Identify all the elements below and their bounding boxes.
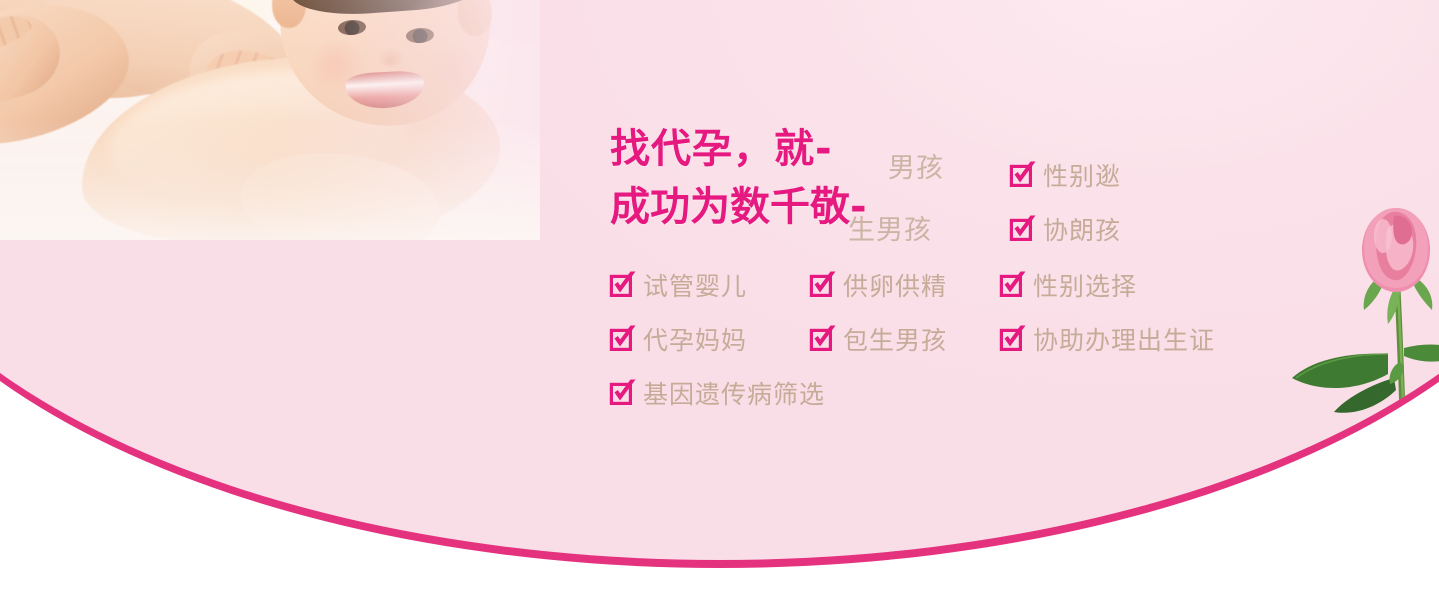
checklist-item-genetic-screening[interactable]: 基因遗传病筛选 bbox=[610, 375, 825, 411]
promo-banner: 男孩 生男孩 找代孕，就‐ 成功为数千敬‐ 性别逖 bbox=[0, 0, 1439, 600]
checklist-label: 协助办理出生证 bbox=[1033, 321, 1215, 357]
checklist-item-birth-cert[interactable]: 协助办理出生证 bbox=[1000, 321, 1215, 357]
table-row: 试管婴儿 供卵供精 性别选择 bbox=[610, 258, 1310, 312]
list-item[interactable]: 性别逖 bbox=[1010, 148, 1121, 202]
checkbox-checked-icon[interactable] bbox=[1010, 163, 1034, 187]
checklist-label: 包生男孩 bbox=[843, 321, 947, 357]
checklist-label: 供卵供精 bbox=[843, 267, 947, 303]
checklist-label: 代孕妈妈 bbox=[643, 321, 747, 357]
headline-line-2: 成功为数千敬‐ bbox=[610, 178, 1310, 236]
checkbox-checked-icon[interactable] bbox=[610, 327, 634, 351]
checklist-label: 试管婴儿 bbox=[643, 267, 747, 303]
checklist-item-boy[interactable]: 包生男孩 bbox=[810, 321, 1000, 357]
photo-bottom-fade bbox=[0, 120, 540, 240]
checkbox-checked-icon[interactable] bbox=[610, 273, 634, 297]
list-item[interactable]: 协朗孩 bbox=[1010, 202, 1121, 256]
checklist-item-gender[interactable]: 性别选择 bbox=[1000, 267, 1137, 303]
headline-line-1: 找代孕，就‐ bbox=[610, 120, 1310, 178]
mother-and-baby-photo bbox=[0, 0, 540, 240]
checkbox-checked-icon[interactable] bbox=[610, 381, 634, 405]
checklist-label: 性别逖 bbox=[1043, 157, 1121, 193]
checklist-item-ivf[interactable]: 试管婴儿 bbox=[610, 267, 810, 303]
table-row: 基因遗传病筛选 bbox=[610, 366, 1310, 420]
table-row: 代孕妈妈 包生男孩 协助办理出生证 bbox=[610, 312, 1310, 366]
checkbox-checked-icon[interactable] bbox=[1010, 217, 1034, 241]
checkbox-checked-icon[interactable] bbox=[810, 273, 834, 297]
checklist-cell[interactable]: 协朗孩 bbox=[1010, 211, 1121, 247]
checklist-label: 基因遗传病筛选 bbox=[643, 375, 825, 411]
checklist-cell[interactable]: 性别逖 bbox=[1010, 157, 1121, 193]
checklist-right-upper: 性别逖 协朗孩 bbox=[1010, 148, 1121, 256]
checkbox-checked-icon[interactable] bbox=[810, 327, 834, 351]
checklist-label: 协朗孩 bbox=[1043, 211, 1121, 247]
service-checklist: 试管婴儿 供卵供精 性别选择 bbox=[610, 258, 1310, 420]
page-title: 找代孕，就‐ 成功为数千敬‐ bbox=[610, 120, 1310, 236]
checkbox-checked-icon[interactable] bbox=[1000, 273, 1024, 297]
checklist-item-surrogate[interactable]: 代孕妈妈 bbox=[610, 321, 810, 357]
checklist-item-donor[interactable]: 供卵供精 bbox=[810, 267, 1000, 303]
checkbox-checked-icon[interactable] bbox=[1000, 327, 1024, 351]
checklist-label: 性别选择 bbox=[1033, 267, 1137, 303]
headline-block: 男孩 生男孩 找代孕，就‐ 成功为数千敬‐ bbox=[610, 120, 1310, 236]
